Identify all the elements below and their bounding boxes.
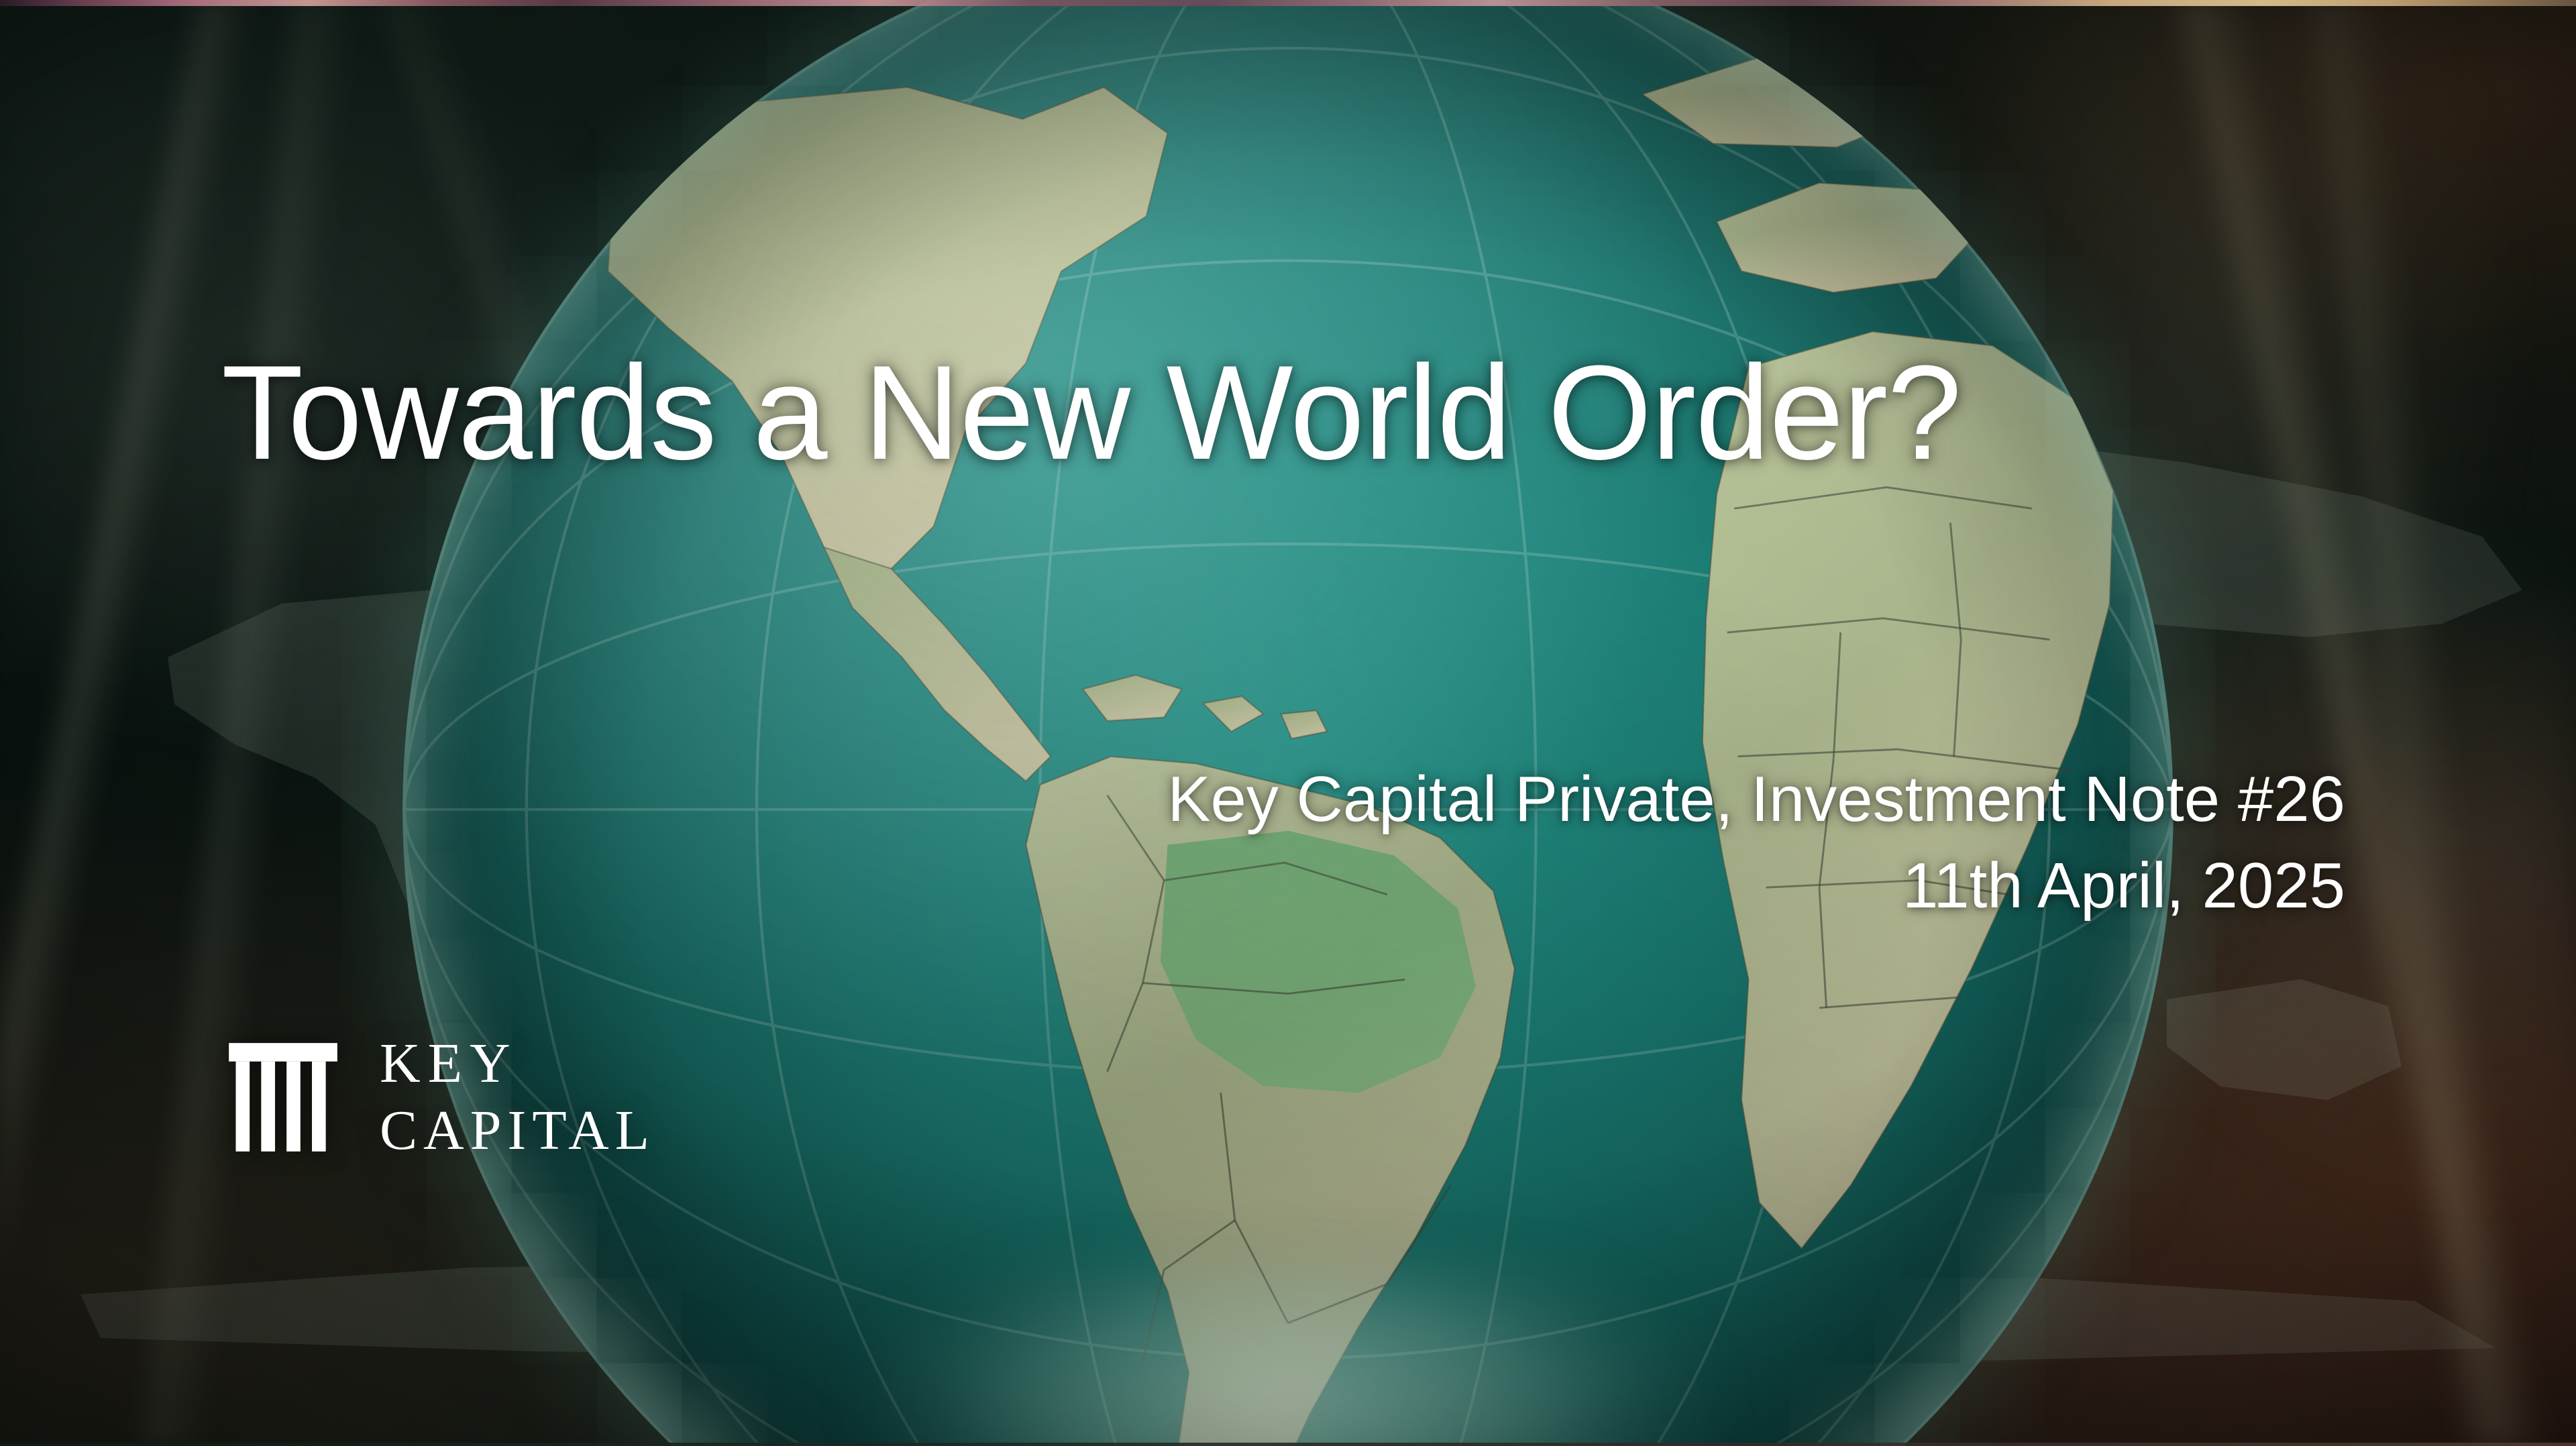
bottom-edge-artifact [0, 1443, 2576, 1446]
logo-word-capital: CAPITAL [380, 1103, 655, 1159]
logo-word-key: KEY [380, 1036, 655, 1092]
column-mark-icon [225, 1040, 341, 1155]
logo-wordmark: KEY CAPITAL [380, 1036, 655, 1159]
top-scanline-artifact [0, 0, 2576, 6]
presentation-slide: Towards a New World Order? Key Capital P… [0, 0, 2576, 1446]
subtitle-block: Key Capital Private, Investment Note #26… [1167, 757, 2345, 929]
subtitle-line-date: 11th April, 2025 [1167, 843, 2345, 930]
page-title: Towards a New World Order? [221, 341, 2368, 486]
subtitle-line-source: Key Capital Private, Investment Note #26 [1167, 757, 2345, 843]
key-capital-logo: KEY CAPITAL [225, 1036, 655, 1159]
slide-content: Towards a New World Order? Key Capital P… [0, 0, 2576, 1446]
